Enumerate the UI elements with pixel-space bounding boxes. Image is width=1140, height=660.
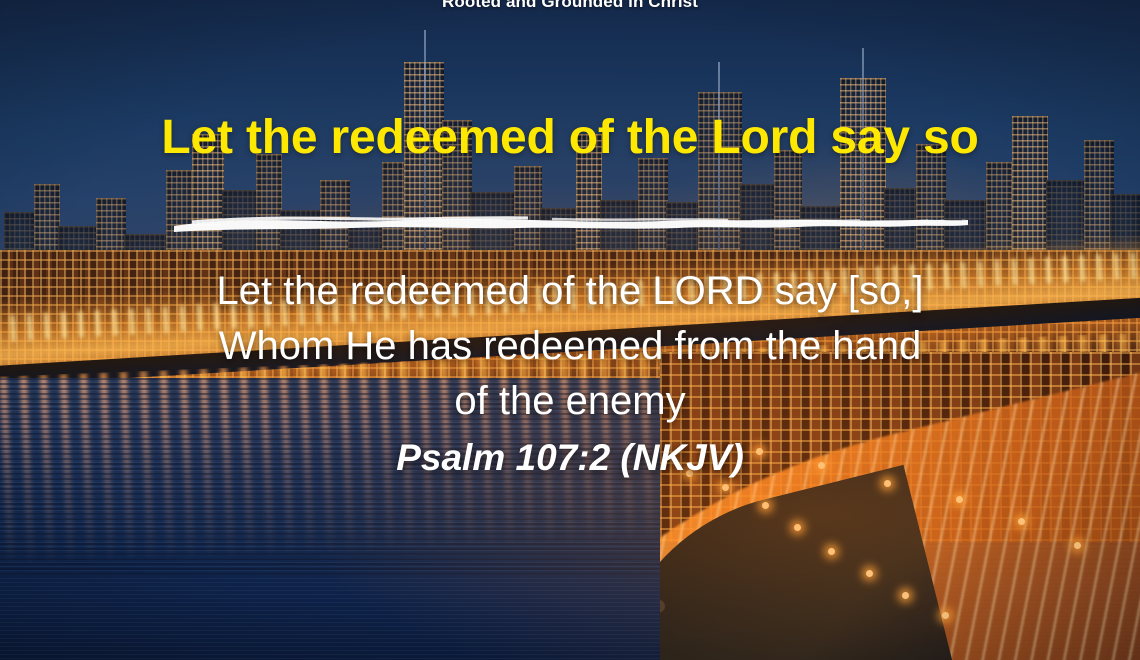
ministry-banner: Rooted and Grounded in Christ bbox=[0, 0, 1140, 13]
scripture-reference: Psalm 107:2 (NKJV) bbox=[0, 437, 1140, 479]
text-content: Rooted and Grounded in Christ Let the re… bbox=[0, 0, 1140, 660]
brush-stroke-divider bbox=[172, 206, 972, 240]
brush-stroke-icon bbox=[172, 206, 972, 240]
verse-line-1: Let the redeemed of the LORD say [so,] bbox=[0, 264, 1140, 319]
verse-line-2: Whom He has redeemed from the hand bbox=[0, 319, 1140, 374]
verse-text: Let the redeemed of the LORD say [so,] W… bbox=[0, 264, 1140, 428]
headline-title: Let the redeemed of the Lord say so bbox=[0, 112, 1140, 165]
scripture-graphic: Rooted and Grounded in Christ Let the re… bbox=[0, 0, 1140, 660]
verse-line-3: of the enemy bbox=[0, 374, 1140, 429]
